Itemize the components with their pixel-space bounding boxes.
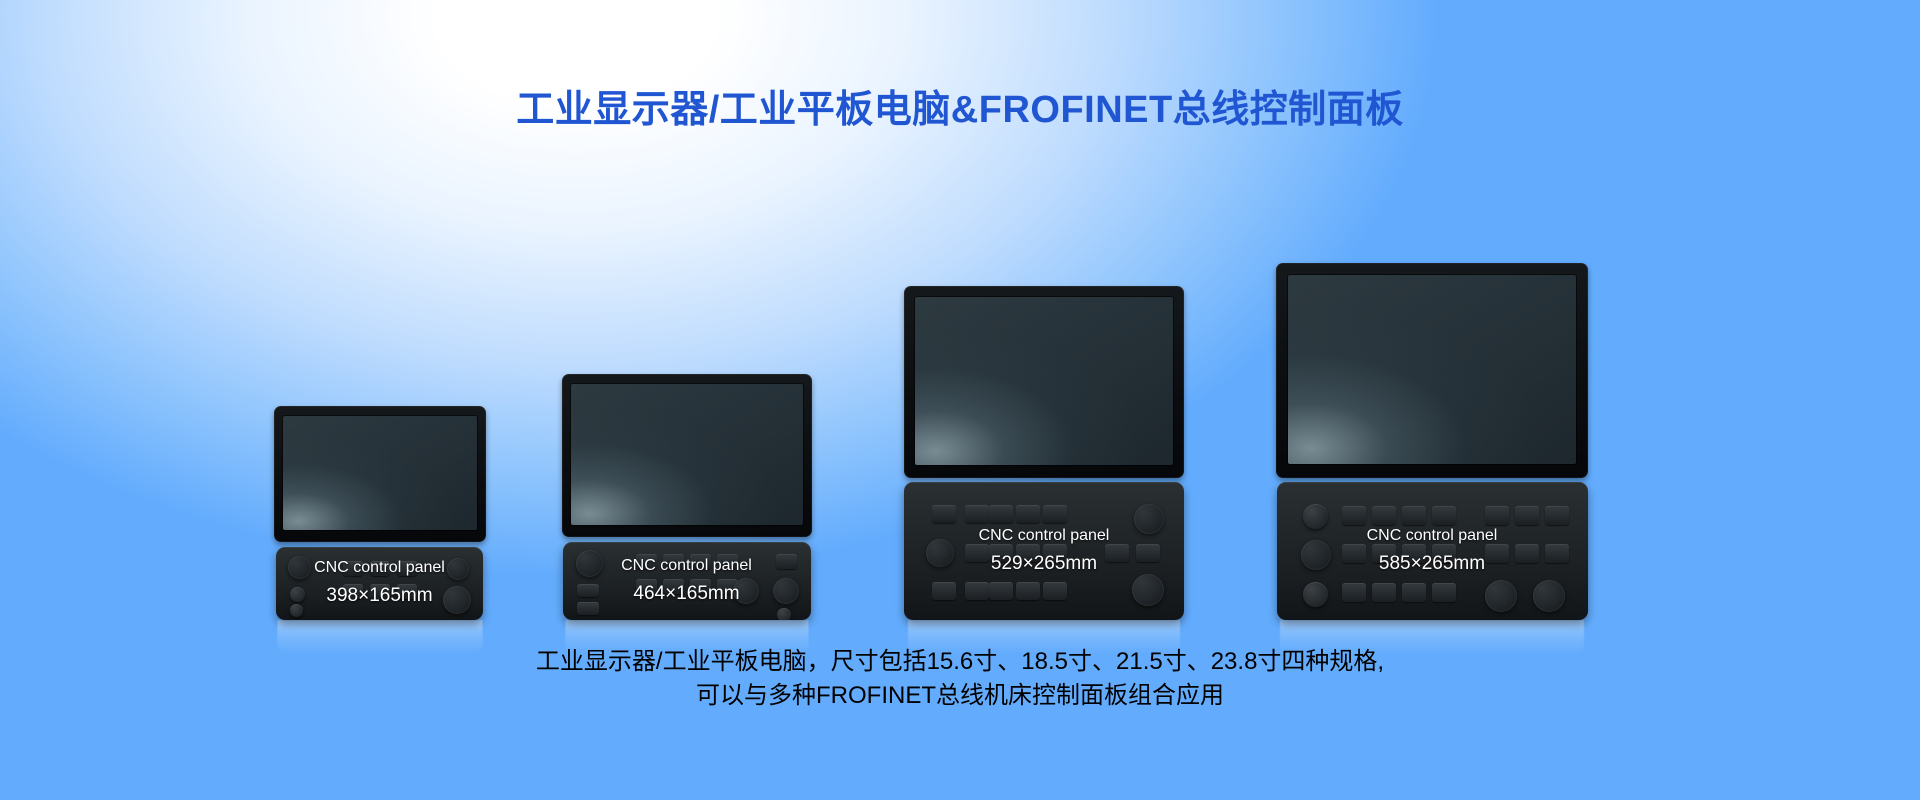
unit-1-control-panel[interactable]: CNC control panel 398×165mm bbox=[276, 547, 483, 620]
unit-4-button-r1c4[interactable] bbox=[1432, 506, 1456, 525]
caption-block: 工业显示器/工业平板电脑，尺寸包括15.6寸、18.5寸、21.5寸、23.8寸… bbox=[0, 645, 1920, 713]
page-title: 工业显示器/工业平板电脑&FROFINET总线控制面板 bbox=[0, 78, 1920, 133]
unit-1-button-4[interactable] bbox=[343, 584, 363, 599]
unit-4-display bbox=[1276, 263, 1588, 478]
caption-line-1: 工业显示器/工业平板电脑，尺寸包括15.6寸、18.5寸、21.5寸、23.8寸… bbox=[0, 645, 1920, 679]
unit-4-button-r2c6[interactable] bbox=[1515, 544, 1539, 563]
product-unit-1[interactable]: CNC control panel 398×165mm bbox=[272, 406, 487, 620]
unit-4-button-r2c5[interactable] bbox=[1485, 544, 1509, 563]
unit-2-dial-mid[interactable] bbox=[733, 578, 759, 604]
unit-1-dial-right[interactable] bbox=[447, 558, 469, 580]
unit-4-button-r2c4[interactable] bbox=[1432, 544, 1456, 563]
unit-3-control-panel[interactable]: CNC control panel 529×265mm bbox=[904, 482, 1184, 620]
unit-2-button-l1[interactable] bbox=[577, 584, 599, 597]
product-unit-4[interactable]: CNC control panel 585×265mm bbox=[1275, 263, 1589, 620]
unit-1-dial-right-2[interactable] bbox=[443, 586, 471, 614]
unit-3-button-r2c2[interactable] bbox=[989, 544, 1013, 562]
product-unit-3[interactable]: CNC control panel 529×265mm bbox=[903, 286, 1185, 620]
unit-4-button-r1c2[interactable] bbox=[1372, 506, 1396, 525]
unit-4-knob-r3[interactable] bbox=[1303, 582, 1328, 607]
unit-3-button-r3c2[interactable] bbox=[965, 582, 989, 600]
unit-3-button-r3c5[interactable] bbox=[1043, 582, 1067, 600]
unit-1-button-2[interactable] bbox=[370, 561, 390, 576]
promo-banner: 工业显示器/工业平板电脑&FROFINET总线控制面板 CN bbox=[0, 0, 1920, 800]
unit-4-button-r2c7[interactable] bbox=[1545, 544, 1569, 563]
unit-2-button-r1[interactable] bbox=[776, 554, 797, 569]
unit-3-dial-left[interactable] bbox=[926, 539, 954, 567]
unit-2-button-4[interactable] bbox=[717, 554, 738, 569]
unit-3-button-r3c1[interactable] bbox=[932, 582, 956, 600]
unit-1-knob-left[interactable] bbox=[290, 587, 305, 602]
unit-4-dial-left[interactable] bbox=[1301, 540, 1331, 570]
unit-3-button-r1c4[interactable] bbox=[1016, 505, 1040, 523]
product-lineup: CNC control panel 398×165mm bbox=[0, 200, 1920, 620]
unit-2-button-2[interactable] bbox=[663, 554, 684, 569]
unit-4-button-r2c3[interactable] bbox=[1402, 544, 1426, 563]
unit-1-button-5[interactable] bbox=[370, 584, 390, 599]
unit-4-button-r1c1[interactable] bbox=[1342, 506, 1366, 525]
unit-3-button-r1c2[interactable] bbox=[965, 505, 989, 523]
unit-4-button-r1c5[interactable] bbox=[1485, 506, 1509, 525]
unit-3-button-r2c1[interactable] bbox=[965, 544, 989, 562]
unit-2-display bbox=[562, 374, 812, 537]
unit-2-button-1[interactable] bbox=[636, 554, 657, 569]
unit-4-dial-bottom-1[interactable] bbox=[1485, 580, 1517, 612]
unit-3-button-r2c3[interactable] bbox=[1016, 544, 1040, 562]
unit-3-button-r3c3[interactable] bbox=[989, 582, 1013, 600]
unit-4-control-panel[interactable]: CNC control panel 585×265mm bbox=[1277, 482, 1588, 620]
unit-4-button-r1c3[interactable] bbox=[1402, 506, 1426, 525]
unit-4-knob-r1[interactable] bbox=[1303, 504, 1328, 529]
unit-4-dial-bottom-2[interactable] bbox=[1533, 580, 1565, 612]
unit-3-button-r2c6[interactable] bbox=[1136, 544, 1160, 562]
unit-1-button-3[interactable] bbox=[397, 561, 417, 576]
unit-2-control-panel[interactable]: CNC control panel 464×165mm bbox=[563, 542, 811, 620]
unit-1-screen bbox=[283, 416, 477, 530]
unit-1-display bbox=[274, 406, 486, 542]
unit-2-knob-bottom[interactable] bbox=[777, 608, 791, 620]
unit-1-dial-left[interactable] bbox=[288, 556, 311, 579]
product-unit-2[interactable]: CNC control panel 464×165mm bbox=[560, 374, 813, 620]
unit-3-screen bbox=[915, 297, 1173, 465]
unit-4-button-r1c6[interactable] bbox=[1515, 506, 1539, 525]
unit-2-button-5[interactable] bbox=[636, 579, 657, 594]
unit-4-button-r2c2[interactable] bbox=[1372, 544, 1396, 563]
unit-3-button-r3c4[interactable] bbox=[1016, 582, 1040, 600]
unit-3-button-r1c1[interactable] bbox=[932, 505, 956, 523]
unit-4-button-r3c3[interactable] bbox=[1402, 583, 1426, 602]
unit-1-button-1[interactable] bbox=[343, 561, 363, 576]
unit-4-button-r3c2[interactable] bbox=[1372, 583, 1396, 602]
unit-1-knob-left-2[interactable] bbox=[290, 604, 303, 617]
unit-2-dial-left[interactable] bbox=[576, 550, 603, 577]
unit-4-button-r2c1[interactable] bbox=[1342, 544, 1366, 563]
unit-2-button-l2[interactable] bbox=[577, 602, 599, 615]
unit-2-button-3[interactable] bbox=[690, 554, 711, 569]
unit-3-button-r2c5[interactable] bbox=[1105, 544, 1129, 562]
unit-3-dial-top-right[interactable] bbox=[1134, 504, 1164, 534]
unit-3-button-r2c4[interactable] bbox=[1043, 544, 1067, 562]
unit-2-screen bbox=[571, 384, 803, 525]
unit-3-dial-bottom-right[interactable] bbox=[1132, 574, 1164, 606]
unit-4-button-r1c7[interactable] bbox=[1545, 506, 1569, 525]
unit-3-display bbox=[904, 286, 1184, 478]
unit-3-button-r1c5[interactable] bbox=[1043, 505, 1067, 523]
caption-line-2: 可以与多种FROFINET总线机床控制面板组合应用 bbox=[0, 679, 1920, 713]
unit-4-screen bbox=[1288, 275, 1576, 464]
unit-4-button-r3c4[interactable] bbox=[1432, 583, 1456, 602]
unit-2-button-6[interactable] bbox=[663, 579, 684, 594]
unit-3-button-r1c3[interactable] bbox=[989, 505, 1013, 523]
unit-2-dial-right[interactable] bbox=[773, 578, 799, 604]
unit-1-button-6[interactable] bbox=[397, 584, 417, 599]
unit-2-button-7[interactable] bbox=[690, 579, 711, 594]
unit-4-button-r3c1[interactable] bbox=[1342, 583, 1366, 602]
